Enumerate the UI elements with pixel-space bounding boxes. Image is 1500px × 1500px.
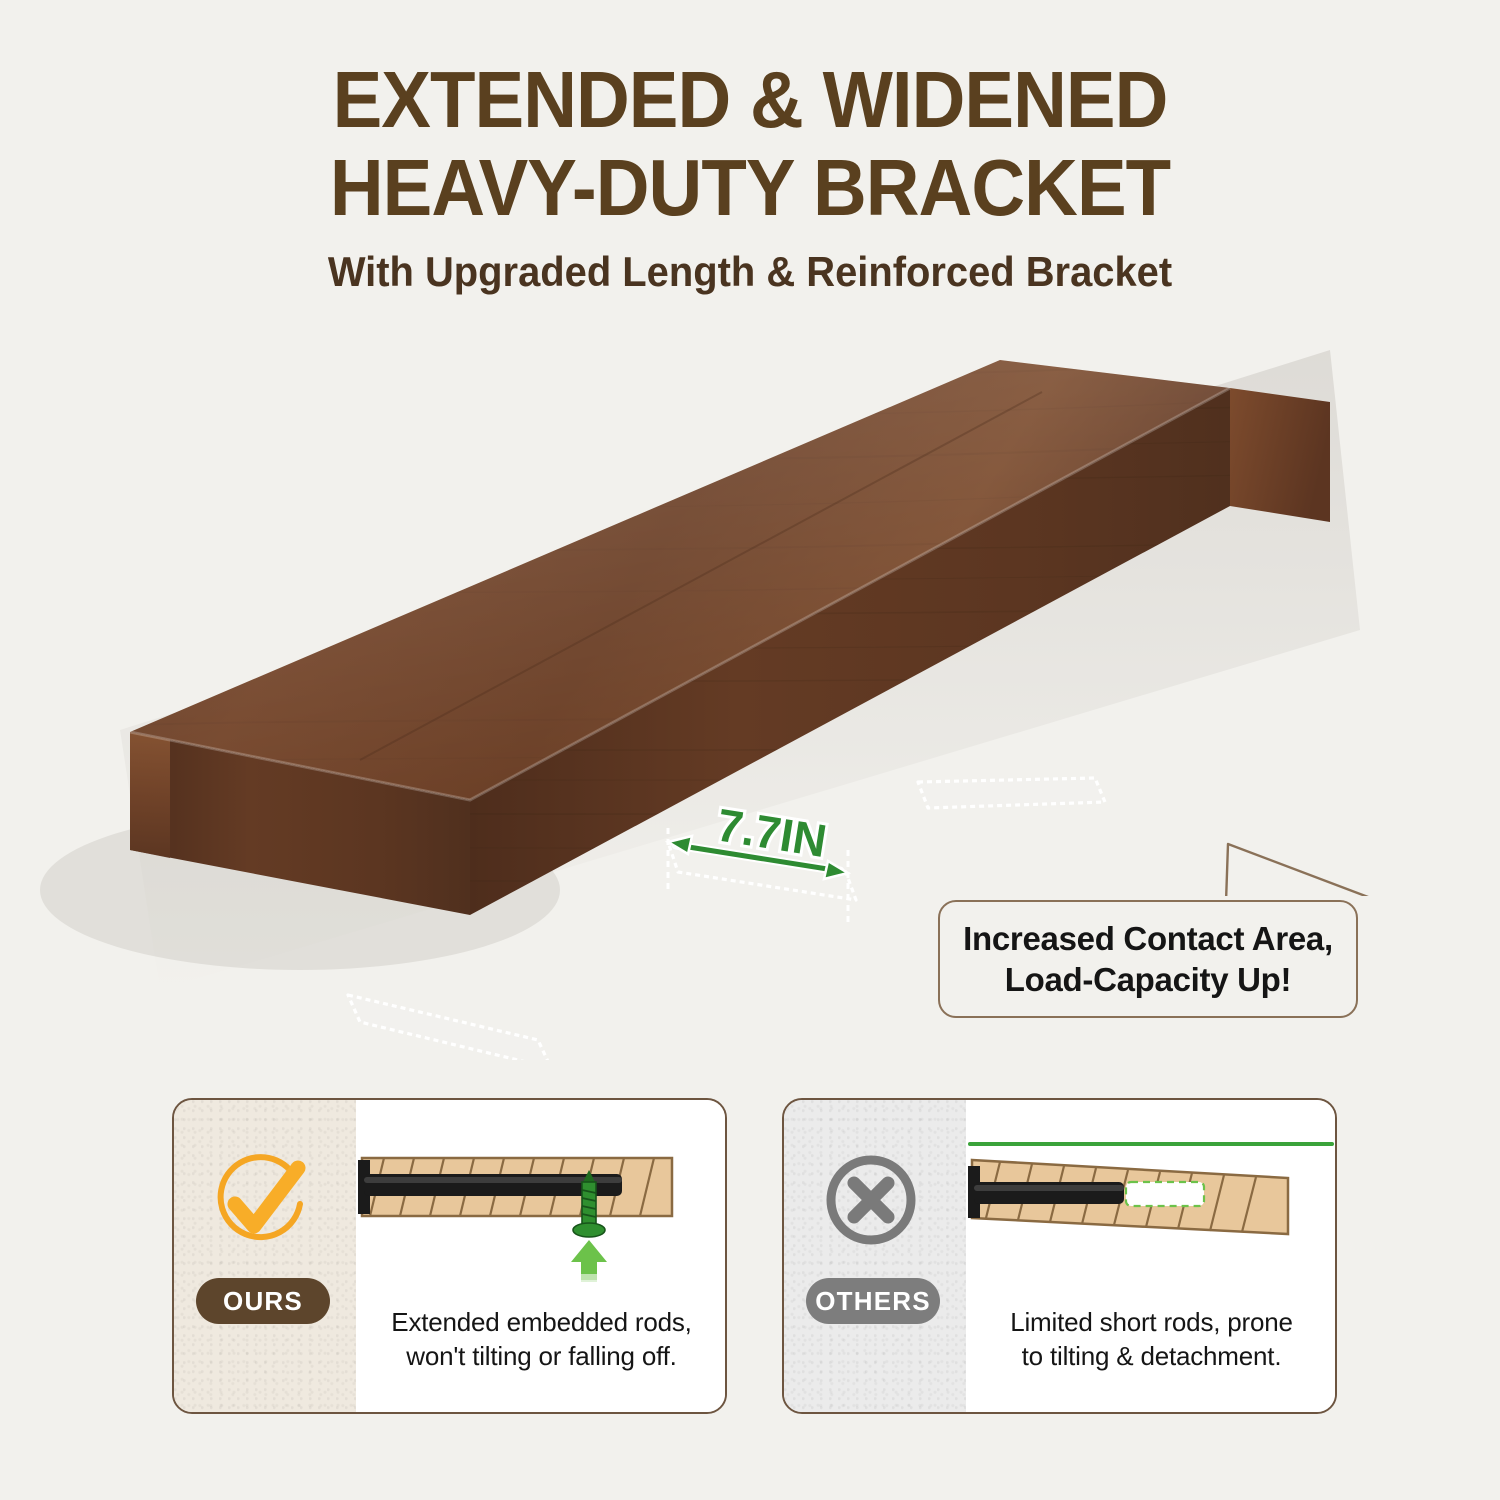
ours-caption-line-1: Extended embedded rods, xyxy=(368,1305,715,1339)
shelf-left-end-cap xyxy=(130,732,170,858)
ours-diagram-area: Extended embedded rods, won't tilting or… xyxy=(356,1100,725,1412)
embedded-rod-outline-far xyxy=(918,778,1105,808)
ours-wall-texture: OURS xyxy=(174,1100,356,1412)
others-missing-rod-gap xyxy=(1126,1182,1204,1206)
headline-line-1: EXTENDED & WIDENED xyxy=(53,56,1448,144)
x-circle-icon xyxy=(812,1148,930,1260)
ours-caption-line-2: won't tilting or falling off. xyxy=(368,1339,715,1373)
ours-caption: Extended embedded rods, won't tilting or… xyxy=(368,1305,715,1373)
shelf-right-end-cap xyxy=(1230,388,1330,522)
badge-others: OTHERS xyxy=(806,1278,940,1324)
ours-up-arrow-icon xyxy=(571,1240,607,1282)
callout-line-1: Increased Contact Area, xyxy=(963,918,1333,959)
ours-cross-section-diagram xyxy=(356,1122,727,1282)
callout-line-2: Load-Capacity Up! xyxy=(1005,959,1291,1000)
badge-ours: OURS xyxy=(196,1278,330,1324)
headline-line-2: HEAVY-DUTY BRACKET xyxy=(53,144,1448,232)
badge-ours-label: OURS xyxy=(223,1286,303,1317)
callout-bubble: Increased Contact Area, Load-Capacity Up… xyxy=(938,900,1358,1018)
others-cross-section-diagram xyxy=(966,1122,1337,1282)
others-caption: Limited short rods, prone to tilting & d… xyxy=(978,1305,1325,1373)
others-caption-line-2: to tilting & detachment. xyxy=(978,1339,1325,1373)
comparison-panel-others: OTHERS Limi xyxy=(782,1098,1337,1414)
others-caption-line-1: Limited short rods, prone xyxy=(978,1305,1325,1339)
subtitle: With Upgraded Length & Reinforced Bracke… xyxy=(38,248,1463,296)
check-circle-icon xyxy=(202,1148,320,1260)
comparison-panel-ours: OURS xyxy=(172,1098,727,1414)
headline-block: EXTENDED & WIDENED HEAVY-DUTY BRACKET Wi… xyxy=(0,56,1500,296)
embedded-rod-outline-near xyxy=(348,995,551,1060)
others-diagram-area: Limited short rods, prone to tilting & d… xyxy=(966,1100,1335,1412)
others-wall-texture: OTHERS xyxy=(784,1100,966,1412)
badge-others-label: OTHERS xyxy=(815,1286,931,1317)
